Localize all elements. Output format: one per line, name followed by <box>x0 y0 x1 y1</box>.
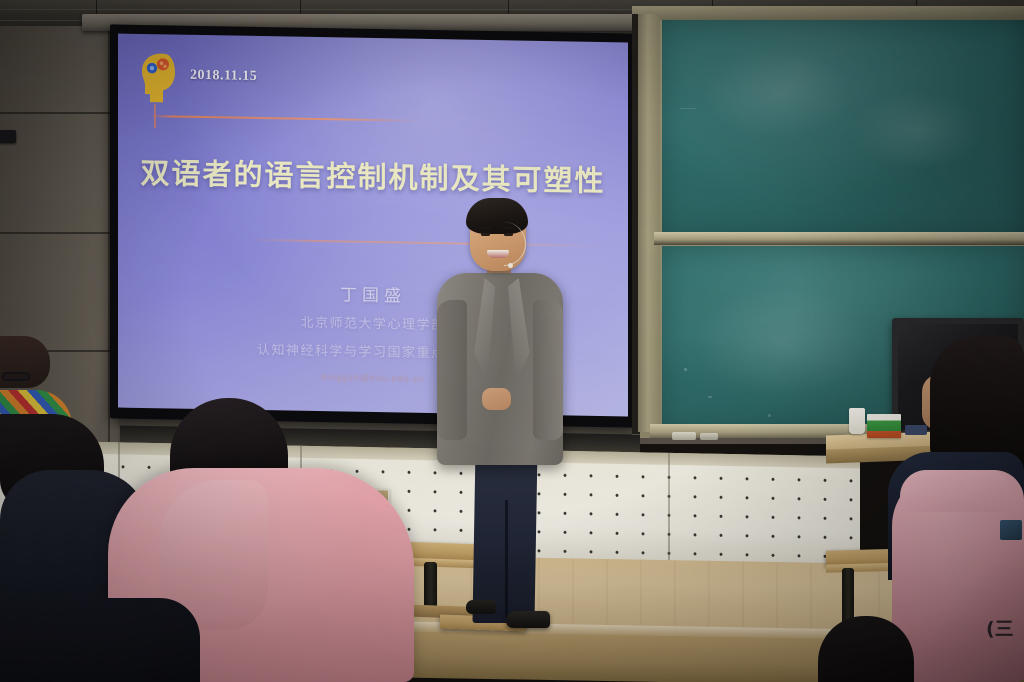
paper-cup[interactable] <box>849 408 865 434</box>
blue-desk-object[interactable] <box>905 425 927 435</box>
slide-date: 2018.11.15 <box>190 68 257 85</box>
presenter-trouser-seam <box>505 500 508 618</box>
brain-head-icon <box>137 50 179 105</box>
right-pink-hoodie-collar <box>900 470 1010 512</box>
presenter-arm-left <box>437 300 467 440</box>
chalk-stick[interactable] <box>700 433 718 440</box>
presenter-shoe-left <box>506 611 550 628</box>
chalkboard-middle-rail <box>654 232 1024 245</box>
green-box[interactable] <box>867 414 901 438</box>
presenter-arm-right <box>533 300 563 440</box>
presenter-shoe-right <box>466 600 496 614</box>
roller-label: PROJECTION SCREEN <box>255 21 318 27</box>
presenter-hands <box>482 388 511 410</box>
lecture-hall-scene: PROJECTION SCREEN 2018.11.15 双语者的语言控制机制及… <box>0 0 1024 682</box>
chalkboard-left-post <box>638 14 660 432</box>
wall-fixture-icon <box>0 130 16 143</box>
headset-microphone-tip <box>508 263 513 268</box>
student-foreground-dark <box>0 598 200 682</box>
slide-rule-top <box>151 115 421 122</box>
eyeglasses-icon <box>2 372 30 381</box>
slide-title: 双语者的语言控制机制及其可塑性 <box>118 150 628 201</box>
chalk-eraser[interactable] <box>672 432 696 440</box>
hoodie-printed-text: (三 <box>986 614 1016 642</box>
presenter-eye-left <box>481 233 490 236</box>
hoodie-shoulder-patch <box>1000 520 1022 540</box>
presenter-eyebrow-left <box>480 227 491 229</box>
slide-rule-mid <box>250 239 605 247</box>
chalkboard-top-rail <box>632 6 1024 20</box>
chalkboard-panel-upper[interactable] <box>662 20 1024 236</box>
